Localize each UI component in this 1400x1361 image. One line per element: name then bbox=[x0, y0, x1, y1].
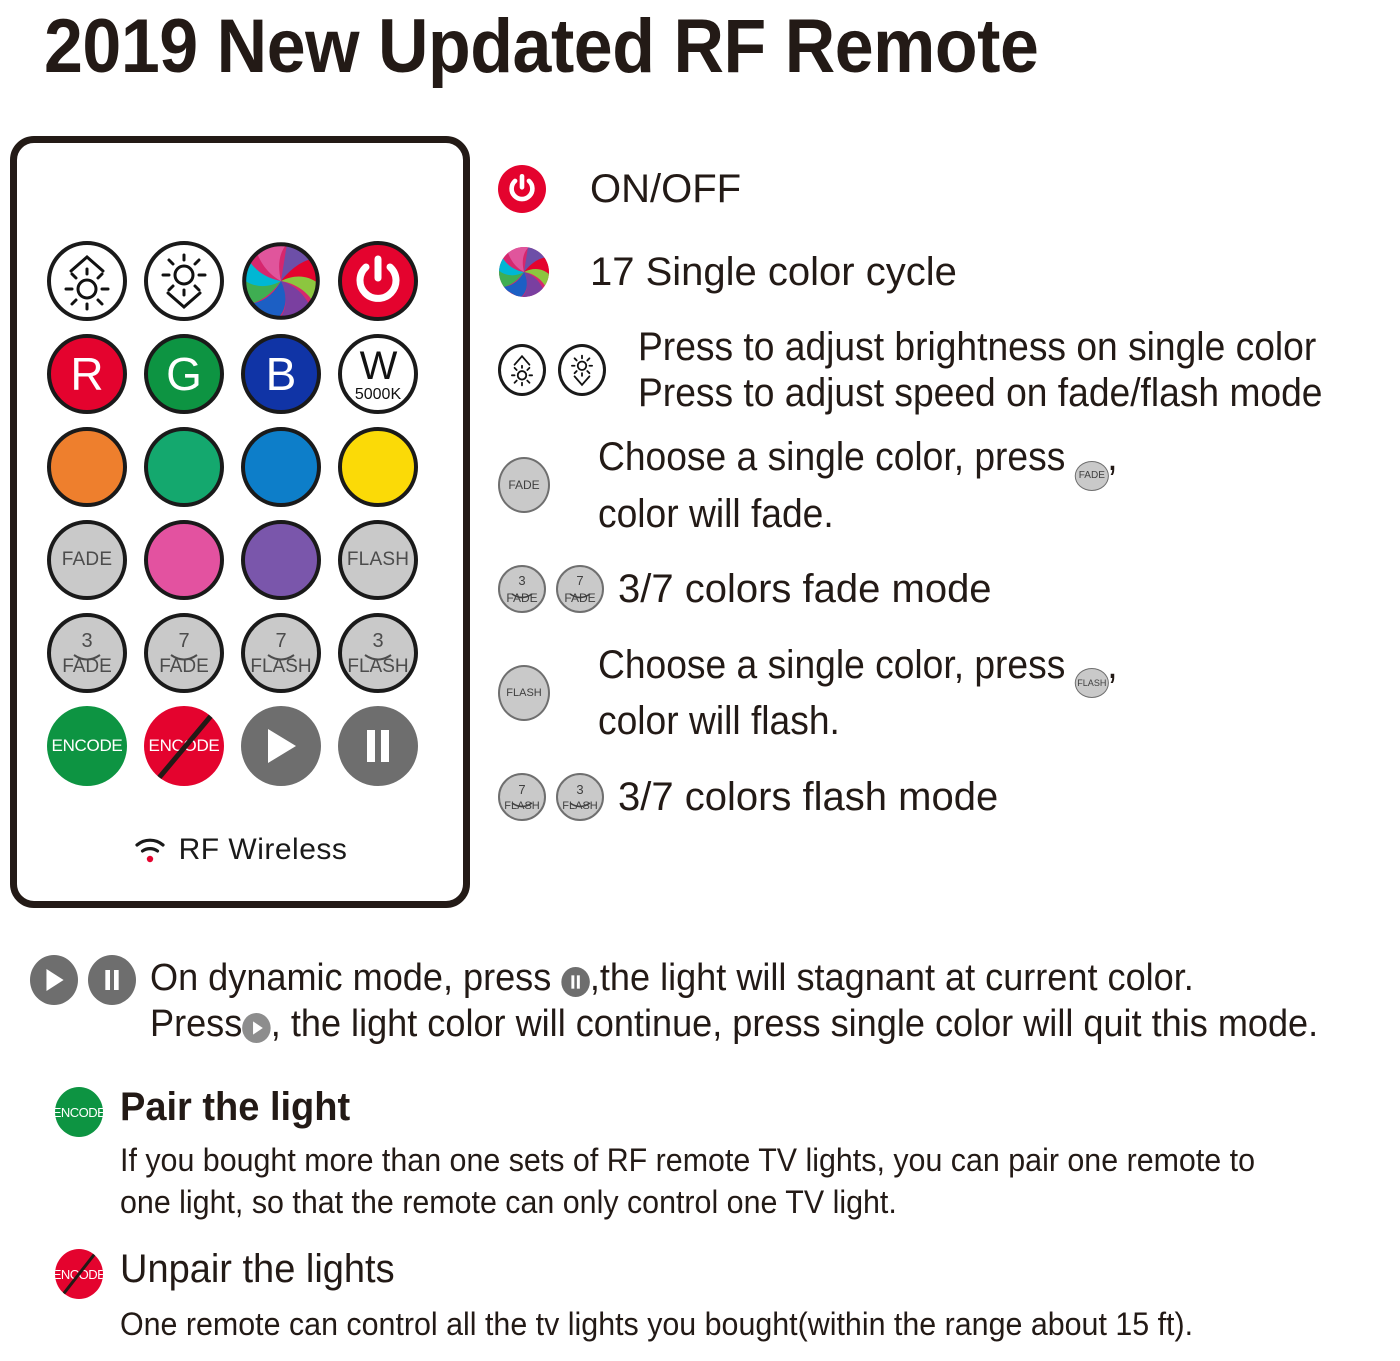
key-word: FADE bbox=[62, 657, 112, 676]
key-stack: 3 FLASH bbox=[347, 631, 408, 676]
legend-item-fade-37: 3 FADE 7 FADE 3/7 colors fade mode bbox=[498, 546, 1398, 632]
legend-item-onoff: ON/OFF bbox=[498, 150, 1398, 228]
section-paragraph-line2: one light, so that the remote can only c… bbox=[120, 1181, 1336, 1223]
key-brightness-up[interactable] bbox=[47, 241, 127, 321]
badge-number: 7 bbox=[504, 783, 539, 796]
key-yellow[interactable] bbox=[338, 427, 418, 507]
keypad-row: ENCODE ENCODE bbox=[47, 706, 437, 786]
note-sentence-b: , the light color will continue, press s… bbox=[271, 1003, 1318, 1045]
bottom-notes: On dynamic mode, press ,the light will s… bbox=[0, 955, 1400, 1345]
legend-icon-group: 3 FADE 7 FADE bbox=[498, 565, 618, 613]
fade-7-badge-icon: 7 FADE bbox=[556, 565, 604, 613]
key-color-cycle[interactable] bbox=[241, 241, 321, 321]
legend-text: ON/OFF bbox=[590, 163, 741, 215]
fade-badge-icon: FADE bbox=[498, 457, 550, 513]
remote-control-body: R G B W 5000K bbox=[10, 136, 470, 908]
legend-text: 17 Single color cycle bbox=[590, 246, 957, 298]
legend-text-line2: Press to adjust speed on fade/flash mode bbox=[638, 370, 1322, 416]
badge-label: FLASH bbox=[506, 687, 541, 699]
encode-badge-icon: ENCODE bbox=[55, 1087, 103, 1137]
legend-text-block: Press to adjust brightness on single col… bbox=[638, 324, 1374, 416]
key-red[interactable]: R bbox=[47, 334, 127, 414]
play-inline-icon bbox=[242, 1013, 271, 1043]
section-paragraph-line1: If you bought more than one sets of RF r… bbox=[120, 1139, 1336, 1181]
section-unpair-the-lights: ENCODE Unpair the lights One remote can … bbox=[0, 1245, 1400, 1345]
note-sentence-a: Press bbox=[150, 1003, 242, 1045]
sun-up-icon bbox=[55, 249, 119, 313]
legend-icon-group bbox=[498, 344, 638, 396]
legend-sentence: Choose a single color, press bbox=[598, 435, 1076, 479]
section-body: Unpair the lights One remote can control… bbox=[120, 1245, 1400, 1345]
play-icon bbox=[30, 955, 78, 1005]
legend-item-color-cycle: 17 Single color cycle bbox=[498, 228, 1398, 316]
key-pink[interactable] bbox=[144, 520, 224, 600]
key-flash[interactable]: FLASH bbox=[338, 520, 418, 600]
legend-text-line1: Choose a single color, press FADE, bbox=[598, 434, 1118, 491]
key-azure[interactable] bbox=[241, 427, 321, 507]
sun-down-icon bbox=[152, 249, 216, 313]
key-fade-3[interactable]: 3 FADE bbox=[47, 613, 127, 693]
section-heading: Unpair the lights bbox=[120, 1245, 1336, 1293]
fade-3-badge-icon: 3 FADE bbox=[498, 565, 546, 613]
legend-icon bbox=[498, 165, 590, 213]
pause-inline-icon bbox=[561, 967, 590, 997]
flash-badge-inline-icon: FLASH bbox=[1074, 668, 1108, 698]
legend-text-line2: color will fade. bbox=[598, 491, 1118, 537]
key-number: 7 bbox=[250, 631, 311, 651]
legend-sentence: Choose a single color, press bbox=[598, 643, 1076, 687]
legend-icon: FLASH bbox=[498, 665, 598, 721]
power-icon bbox=[498, 165, 546, 213]
key-play[interactable] bbox=[241, 706, 321, 786]
key-label: G bbox=[166, 347, 202, 401]
rf-wireless-label: RF Wireless bbox=[179, 833, 348, 867]
key-word: FADE bbox=[159, 657, 209, 676]
note-line-1: On dynamic mode, press ,the light will s… bbox=[150, 955, 1318, 1001]
keypad-row bbox=[47, 427, 437, 507]
key-number: 3 bbox=[62, 631, 112, 651]
note-dynamic-mode: On dynamic mode, press ,the light will s… bbox=[0, 955, 1400, 1047]
key-power[interactable] bbox=[338, 241, 418, 321]
key-flash-3[interactable]: 3 FLASH bbox=[338, 613, 418, 693]
sun-up-icon bbox=[498, 344, 546, 396]
unencode-badge-icon: ENCODE bbox=[55, 1249, 103, 1299]
wifi-icon bbox=[133, 836, 167, 864]
keypad-row: FADE FLASH bbox=[47, 520, 437, 600]
color-wheel-icon bbox=[241, 241, 321, 321]
play-icon bbox=[264, 727, 298, 765]
key-flash-7[interactable]: 7 FLASH bbox=[241, 613, 321, 693]
key-fade[interactable]: FADE bbox=[47, 520, 127, 600]
keypad-row bbox=[47, 241, 437, 321]
legend-text-block: Choose a single color, press FLASH, colo… bbox=[598, 642, 1157, 744]
key-blue[interactable]: B bbox=[241, 334, 321, 414]
key-label: R bbox=[70, 347, 103, 401]
badge-number: 3 bbox=[562, 783, 597, 796]
note-sentence-b: ,the light will stagnant at current colo… bbox=[590, 957, 1194, 999]
legend-item-fade: FADE Choose a single color, press FADE, … bbox=[498, 424, 1398, 546]
legend-text: 3/7 colors flash mode bbox=[618, 771, 998, 823]
legend-text: 3/7 colors fade mode bbox=[618, 563, 992, 615]
section-paragraph-line1: One remote can control all the tv lights… bbox=[120, 1303, 1336, 1345]
badge-number: 7 bbox=[564, 574, 595, 587]
legend-text-line2: color will flash. bbox=[598, 698, 1118, 744]
key-sublabel: 5000K bbox=[355, 387, 401, 403]
legend-icon bbox=[498, 246, 590, 298]
keypad-row: R G B W 5000K bbox=[47, 334, 437, 414]
legend-icon-group: 7 FLASH 3 FLASH bbox=[498, 773, 618, 821]
page-title: 2019 New Updated RF Remote bbox=[44, 2, 1038, 92]
sun-down-icon bbox=[558, 344, 606, 396]
power-icon bbox=[352, 255, 404, 307]
legend-text-line1: Press to adjust brightness on single col… bbox=[638, 324, 1322, 370]
badge-label: FADE bbox=[508, 478, 539, 492]
key-pause[interactable] bbox=[338, 706, 418, 786]
badge-word: FLASH bbox=[504, 801, 539, 812]
key-stack: 7 FADE bbox=[159, 631, 209, 676]
key-unencode[interactable]: ENCODE bbox=[144, 706, 224, 786]
legend-item-brightness: Press to adjust brightness on single col… bbox=[498, 316, 1398, 424]
key-label: FADE bbox=[62, 549, 112, 571]
badge-word: FADE bbox=[506, 592, 537, 604]
pause-icon bbox=[88, 955, 136, 1005]
legend-list: ON/OFF bbox=[498, 150, 1398, 840]
section-pair-the-light: ENCODE Pair the light If you bought more… bbox=[0, 1083, 1400, 1223]
legend-icon: FADE bbox=[498, 457, 598, 513]
section-body: Pair the light If you bought more than o… bbox=[120, 1083, 1400, 1223]
pause-icon bbox=[363, 728, 393, 764]
legend-text-line1: Choose a single color, press FLASH, bbox=[598, 642, 1118, 698]
w-5000k-icon: W 5000K bbox=[355, 346, 401, 403]
badge-number: 3 bbox=[506, 574, 537, 587]
badge-word: FLASH bbox=[562, 801, 597, 812]
note-sentence-a: On dynamic mode, press bbox=[150, 957, 561, 999]
key-white-5000k[interactable]: W 5000K bbox=[338, 334, 418, 414]
key-green[interactable]: G bbox=[144, 334, 224, 414]
note-icons bbox=[0, 955, 150, 1005]
key-purple[interactable] bbox=[241, 520, 321, 600]
section-heading: Pair the light bbox=[120, 1083, 1336, 1131]
flash-7-badge-icon: 7 FLASH bbox=[498, 773, 546, 821]
key-brightness-down[interactable] bbox=[144, 241, 224, 321]
key-fade-7[interactable]: 7 FADE bbox=[144, 613, 224, 693]
key-stack: 3 FADE bbox=[62, 631, 112, 676]
key-stack: 7 FLASH bbox=[250, 631, 311, 676]
rf-wireless-footer: RF Wireless bbox=[17, 833, 463, 867]
key-label: W bbox=[355, 346, 401, 386]
key-label: FLASH bbox=[347, 549, 409, 571]
fade-badge-inline-icon: FADE bbox=[1074, 461, 1108, 491]
keypad-row: 3 FADE 7 FADE bbox=[47, 613, 437, 693]
key-encode[interactable]: ENCODE bbox=[47, 706, 127, 786]
infographic-page: 2019 New Updated RF Remote bbox=[0, 0, 1400, 1361]
color-wheel-icon bbox=[498, 246, 550, 298]
legend-item-flash: FLASH Choose a single color, press FLASH… bbox=[498, 632, 1398, 754]
key-word: FLASH bbox=[347, 657, 408, 676]
section-icon: ENCODE bbox=[0, 1083, 120, 1137]
remote-keypad: R G B W 5000K bbox=[47, 241, 437, 799]
key-label: B bbox=[266, 347, 297, 401]
key-word: FLASH bbox=[250, 657, 311, 676]
key-orange[interactable] bbox=[47, 427, 127, 507]
legend-item-flash-37: 7 FLASH 3 FLASH 3/7 colors flash mode bbox=[498, 754, 1398, 840]
note-text-block: On dynamic mode, press ,the light will s… bbox=[150, 955, 1380, 1047]
legend-text-block: Choose a single color, press FADE, color… bbox=[598, 434, 1157, 537]
badge-word: FADE bbox=[564, 592, 595, 604]
note-line-2: Press, the light color will continue, pr… bbox=[150, 1001, 1318, 1047]
key-number: 3 bbox=[347, 631, 408, 651]
section-icon: ENCODE bbox=[0, 1245, 120, 1299]
badge-label: ENCODE bbox=[53, 1105, 106, 1120]
key-number: 7 bbox=[159, 631, 209, 651]
flash-badge-icon: FLASH bbox=[498, 665, 550, 721]
flash-3-badge-icon: 3 FLASH bbox=[556, 773, 604, 821]
key-spring-green[interactable] bbox=[144, 427, 224, 507]
key-label: ENCODE bbox=[52, 736, 123, 756]
